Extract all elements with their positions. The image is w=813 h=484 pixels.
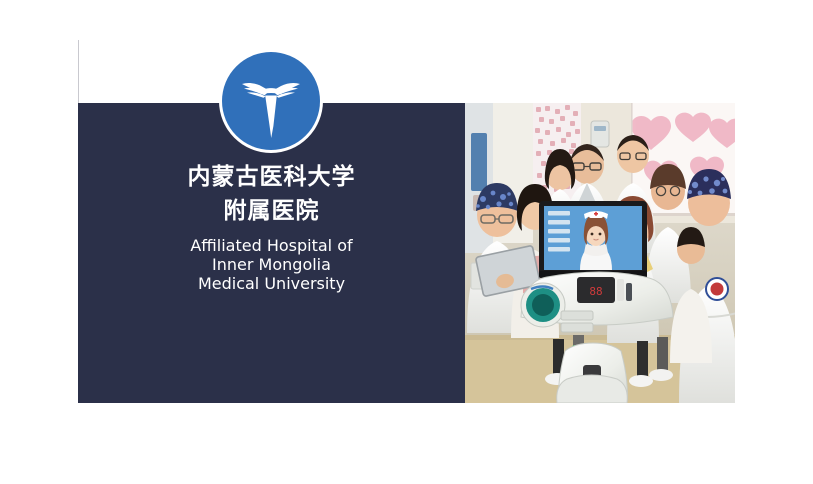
hospital-name-chinese: 内蒙古医科大学 附属医院 (78, 160, 465, 228)
hospital-name-english-line1: Affiliated Hospital of (78, 236, 465, 255)
wings-icon (242, 83, 300, 138)
hospital-name-english-line2: Inner Mongolia (78, 255, 465, 274)
hospital-robot-demo-photo: 88 (465, 103, 735, 403)
slide-canvas: 内蒙古医科大学 附属医院 Affiliated Hospital of Inne… (0, 0, 813, 484)
hospital-emblem-logo (222, 52, 320, 150)
hospital-name-chinese-line2: 附属医院 (224, 198, 320, 224)
vertical-divider-line (78, 40, 79, 104)
hospital-name-block: 内蒙古医科大学 附属医院 Affiliated Hospital of Inne… (78, 160, 465, 309)
robot-display-screen (539, 201, 647, 278)
hospital-name-chinese-line1: 内蒙古医科大学 (188, 164, 356, 190)
svg-text:88: 88 (589, 285, 602, 298)
hospital-name-english-line3: Medical University (78, 274, 465, 293)
